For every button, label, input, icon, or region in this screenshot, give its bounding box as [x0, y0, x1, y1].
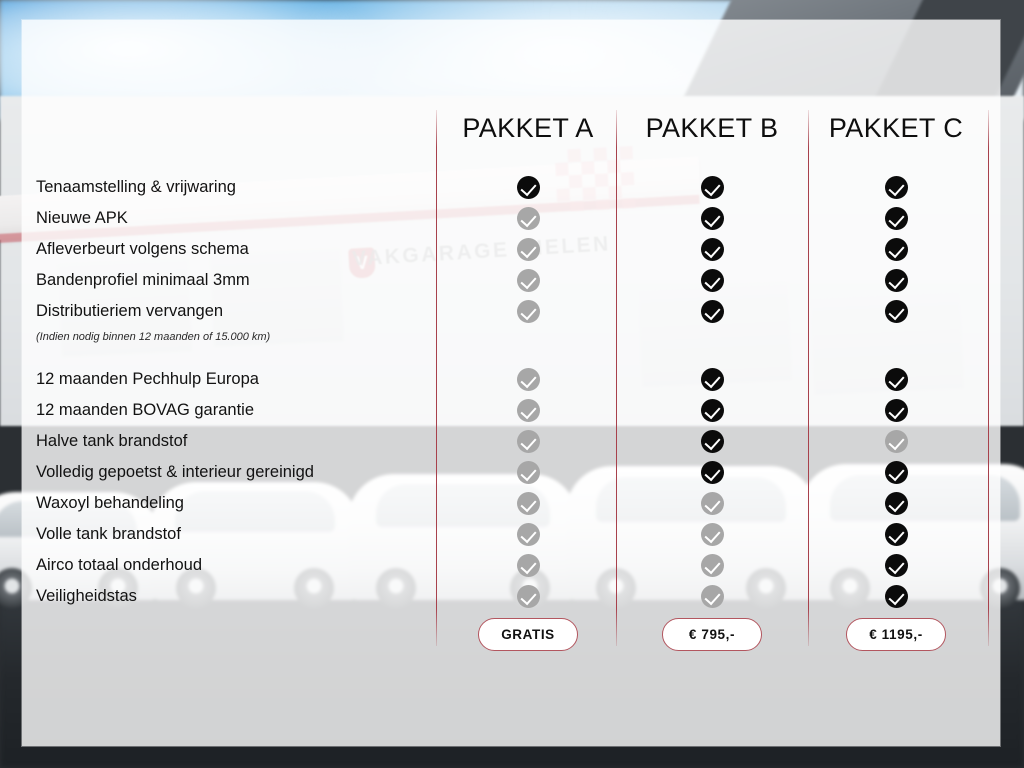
check-cell — [682, 457, 742, 488]
feature-label-list: Tenaamstelling & vrijwaringNieuwe APKAfl… — [36, 172, 426, 612]
price-pill-a[interactable]: GRATIS — [478, 618, 578, 651]
price-pill-b[interactable]: € 795,- — [662, 618, 762, 651]
check-column-b — [682, 172, 742, 612]
check-cell — [498, 426, 558, 457]
check-cell — [866, 457, 926, 488]
check-cell — [682, 296, 742, 327]
check-cell — [682, 364, 742, 395]
check-spacer — [498, 327, 558, 347]
feature-label: Volledig gepoetst & interieur gereinigd — [36, 457, 426, 488]
check-excluded-icon — [517, 269, 540, 292]
check-included-icon — [701, 300, 724, 323]
check-included-icon — [701, 430, 724, 453]
check-cell — [866, 364, 926, 395]
check-excluded-icon — [517, 523, 540, 546]
check-excluded-icon — [517, 554, 540, 577]
check-cell — [498, 519, 558, 550]
check-cell — [498, 550, 558, 581]
check-cell — [866, 426, 926, 457]
check-cell — [682, 488, 742, 519]
feature-label: Nieuwe APK — [36, 203, 426, 234]
feature-label: Bandenprofiel minimaal 3mm — [36, 265, 426, 296]
check-cell — [498, 172, 558, 203]
check-cell — [682, 203, 742, 234]
check-column-a — [498, 172, 558, 612]
check-included-icon — [701, 176, 724, 199]
check-spacer — [682, 347, 742, 364]
check-excluded-icon — [517, 368, 540, 391]
check-cell — [866, 519, 926, 550]
check-column-c — [866, 172, 926, 612]
check-excluded-icon — [701, 492, 724, 515]
check-included-icon — [885, 269, 908, 292]
check-included-icon — [885, 176, 908, 199]
check-cell — [498, 457, 558, 488]
check-included-icon — [517, 176, 540, 199]
check-included-icon — [885, 554, 908, 577]
check-included-icon — [885, 461, 908, 484]
feature-label: Afleverbeurt volgens schema — [36, 234, 426, 265]
check-cell — [498, 234, 558, 265]
check-cell — [498, 395, 558, 426]
column-divider-2 — [808, 110, 809, 646]
package-header-a: PAKKET A — [428, 113, 628, 144]
check-cell — [682, 519, 742, 550]
check-cell — [682, 395, 742, 426]
check-cell — [866, 234, 926, 265]
check-excluded-icon — [701, 523, 724, 546]
check-excluded-icon — [517, 430, 540, 453]
check-cell — [498, 364, 558, 395]
check-cell — [498, 203, 558, 234]
check-cell — [866, 395, 926, 426]
column-divider-3 — [988, 110, 989, 646]
check-cell — [866, 488, 926, 519]
check-excluded-icon — [517, 492, 540, 515]
check-included-icon — [701, 269, 724, 292]
check-excluded-icon — [885, 430, 908, 453]
feature-label: Veiligheidstas — [36, 581, 426, 612]
check-included-icon — [885, 399, 908, 422]
check-cell — [682, 265, 742, 296]
feature-label: Waxoyl behandeling — [36, 488, 426, 519]
check-included-icon — [701, 368, 724, 391]
check-excluded-icon — [517, 300, 540, 323]
check-spacer — [866, 327, 926, 347]
feature-label: 12 maanden Pechhulp Europa — [36, 364, 426, 395]
check-cell — [682, 426, 742, 457]
check-included-icon — [701, 461, 724, 484]
column-divider-1 — [616, 110, 617, 646]
check-excluded-icon — [517, 461, 540, 484]
check-excluded-icon — [517, 585, 540, 608]
check-included-icon — [885, 492, 908, 515]
package-header-b: PAKKET B — [612, 113, 812, 144]
check-cell — [498, 265, 558, 296]
check-spacer — [498, 347, 558, 364]
check-included-icon — [885, 585, 908, 608]
check-excluded-icon — [517, 399, 540, 422]
check-included-icon — [885, 207, 908, 230]
feature-label: Halve tank brandstof — [36, 426, 426, 457]
check-included-icon — [885, 368, 908, 391]
feature-label: Volle tank brandstof — [36, 519, 426, 550]
feature-label: 12 maanden BOVAG garantie — [36, 395, 426, 426]
check-cell — [866, 296, 926, 327]
check-excluded-icon — [701, 554, 724, 577]
check-cell — [866, 265, 926, 296]
group-separator — [36, 347, 426, 364]
feature-label: Distributieriem vervangen — [36, 296, 426, 327]
check-cell — [682, 550, 742, 581]
check-cell — [866, 550, 926, 581]
check-cell — [682, 172, 742, 203]
check-cell — [498, 581, 558, 612]
column-divider-0 — [436, 110, 437, 646]
check-cell — [866, 172, 926, 203]
check-cell — [866, 203, 926, 234]
check-spacer — [866, 347, 926, 364]
check-included-icon — [701, 238, 724, 261]
check-cell — [682, 581, 742, 612]
check-excluded-icon — [517, 238, 540, 261]
check-excluded-icon — [701, 585, 724, 608]
check-cell — [866, 581, 926, 612]
feature-label: Tenaamstelling & vrijwaring — [36, 172, 426, 203]
check-cell — [498, 488, 558, 519]
feature-label: Airco totaal onderhoud — [36, 550, 426, 581]
check-excluded-icon — [517, 207, 540, 230]
check-spacer — [682, 327, 742, 347]
check-cell — [682, 234, 742, 265]
package-header-c: PAKKET C — [796, 113, 996, 144]
price-pill-c[interactable]: € 1195,- — [846, 618, 946, 651]
check-included-icon — [885, 300, 908, 323]
check-cell — [498, 296, 558, 327]
check-included-icon — [701, 399, 724, 422]
check-included-icon — [885, 238, 908, 261]
check-included-icon — [701, 207, 724, 230]
feature-footnote: (Indien nodig binnen 12 maanden of 15.00… — [36, 327, 426, 347]
check-included-icon — [885, 523, 908, 546]
